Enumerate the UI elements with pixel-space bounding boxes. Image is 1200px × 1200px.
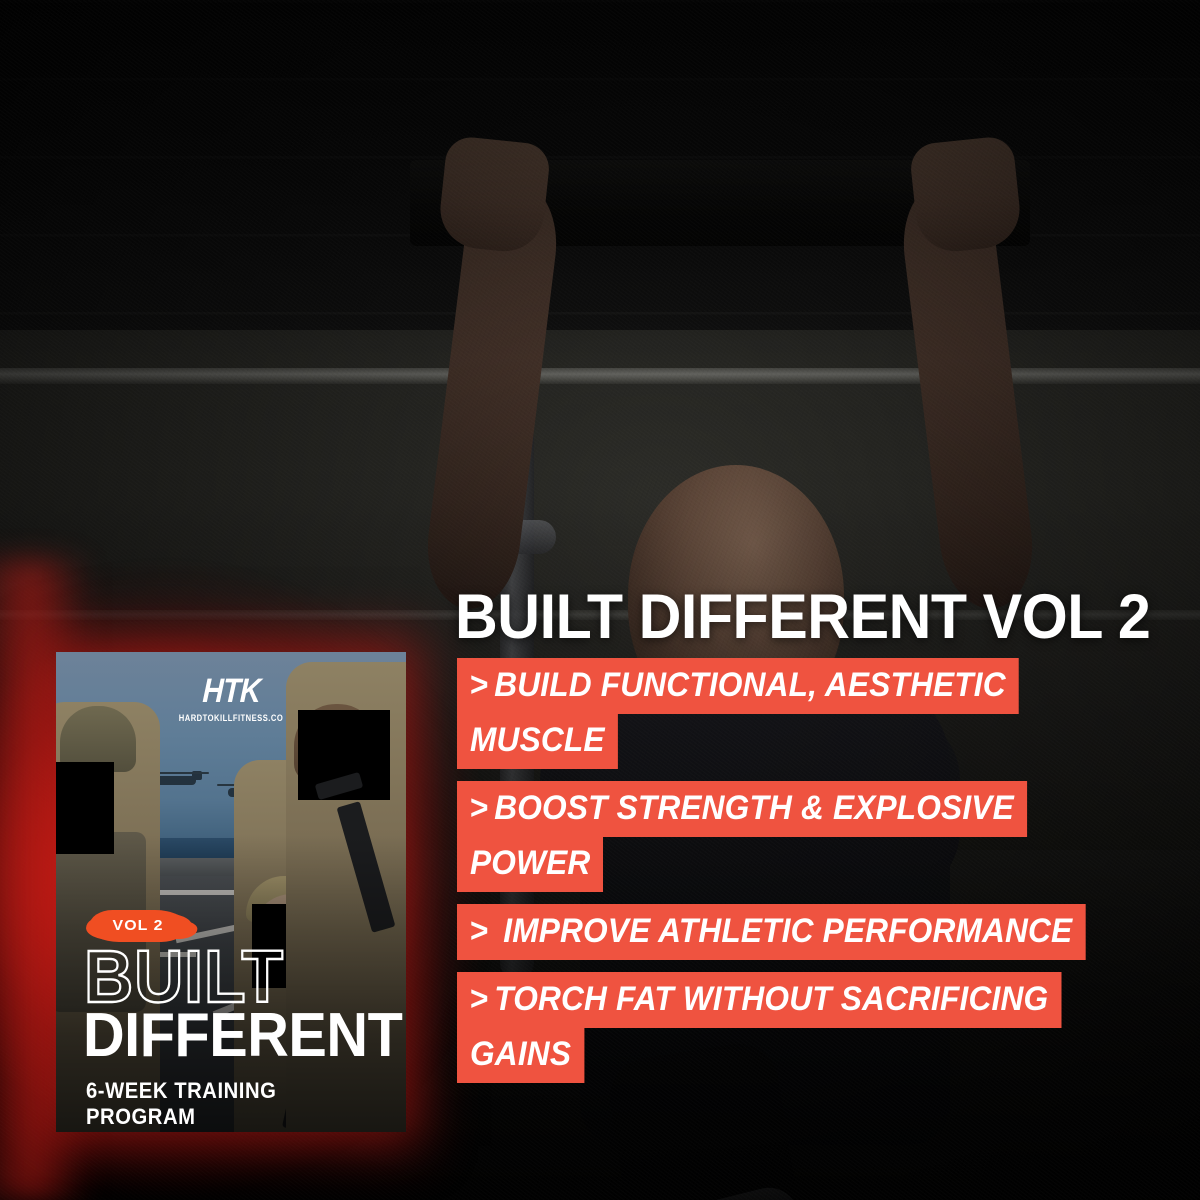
htk-logo-url: HARDTOKILLFITNESS.CO [91, 713, 371, 724]
list-item: > IMPROVE ATHLETIC PERFORMANCE [457, 904, 1164, 959]
product-cover[interactable]: HTK HARDTOKILLFITNESS.CO VOL 2 BUILT DIF… [56, 652, 406, 1132]
benefit-text: IMPROVE ATHLETIC PERFORMANCE [494, 912, 1072, 950]
list-item: >BOOST STRENGTH & EXPLOSIVE POWER [457, 781, 1099, 891]
page-title: BUILT DIFFERENT VOL 2 [455, 586, 1150, 649]
chevron-right-icon: > [470, 912, 489, 950]
promo-graphic: HTK HARDTOKILLFITNESS.CO VOL 2 BUILT DIF… [0, 0, 1200, 1200]
chevron-right-icon: > [470, 666, 489, 704]
benefit-highlight: >BOOST STRENGTH & EXPLOSIVE POWER [457, 781, 1027, 892]
benefit-list: >BUILD FUNCTIONAL, AESTHETIC MUSCLE >BOO… [457, 658, 1177, 1096]
chevron-right-icon: > [470, 980, 489, 1018]
cover-title-line1: BUILT [84, 944, 284, 1009]
benefit-text: BOOST STRENGTH & EXPLOSIVE POWER [470, 789, 1014, 882]
list-item: >TORCH FAT WITHOUT SACRIFICING GAINS [457, 972, 1099, 1082]
cover-subtitle: 6-WEEK TRAINING PROGRAM [86, 1078, 380, 1130]
benefit-text: BUILD FUNCTIONAL, AESTHETIC MUSCLE [470, 666, 1006, 759]
benefit-text: TORCH FAT WITHOUT SACRIFICING GAINS [470, 980, 1048, 1073]
chevron-right-icon: > [470, 789, 489, 827]
cover-title-line2: DIFFERENT [83, 1008, 402, 1064]
htk-logo-mark: HTK [201, 674, 260, 708]
benefit-highlight: >BUILD FUNCTIONAL, AESTHETIC MUSCLE [457, 658, 1019, 769]
benefit-highlight: > IMPROVE ATHLETIC PERFORMANCE [457, 904, 1085, 960]
list-item: >BUILD FUNCTIONAL, AESTHETIC MUSCLE [457, 658, 1099, 768]
cover-logo: HTK HARDTOKILLFITNESS.CO [56, 674, 406, 724]
benefit-highlight: >TORCH FAT WITHOUT SACRIFICING GAINS [457, 972, 1061, 1083]
